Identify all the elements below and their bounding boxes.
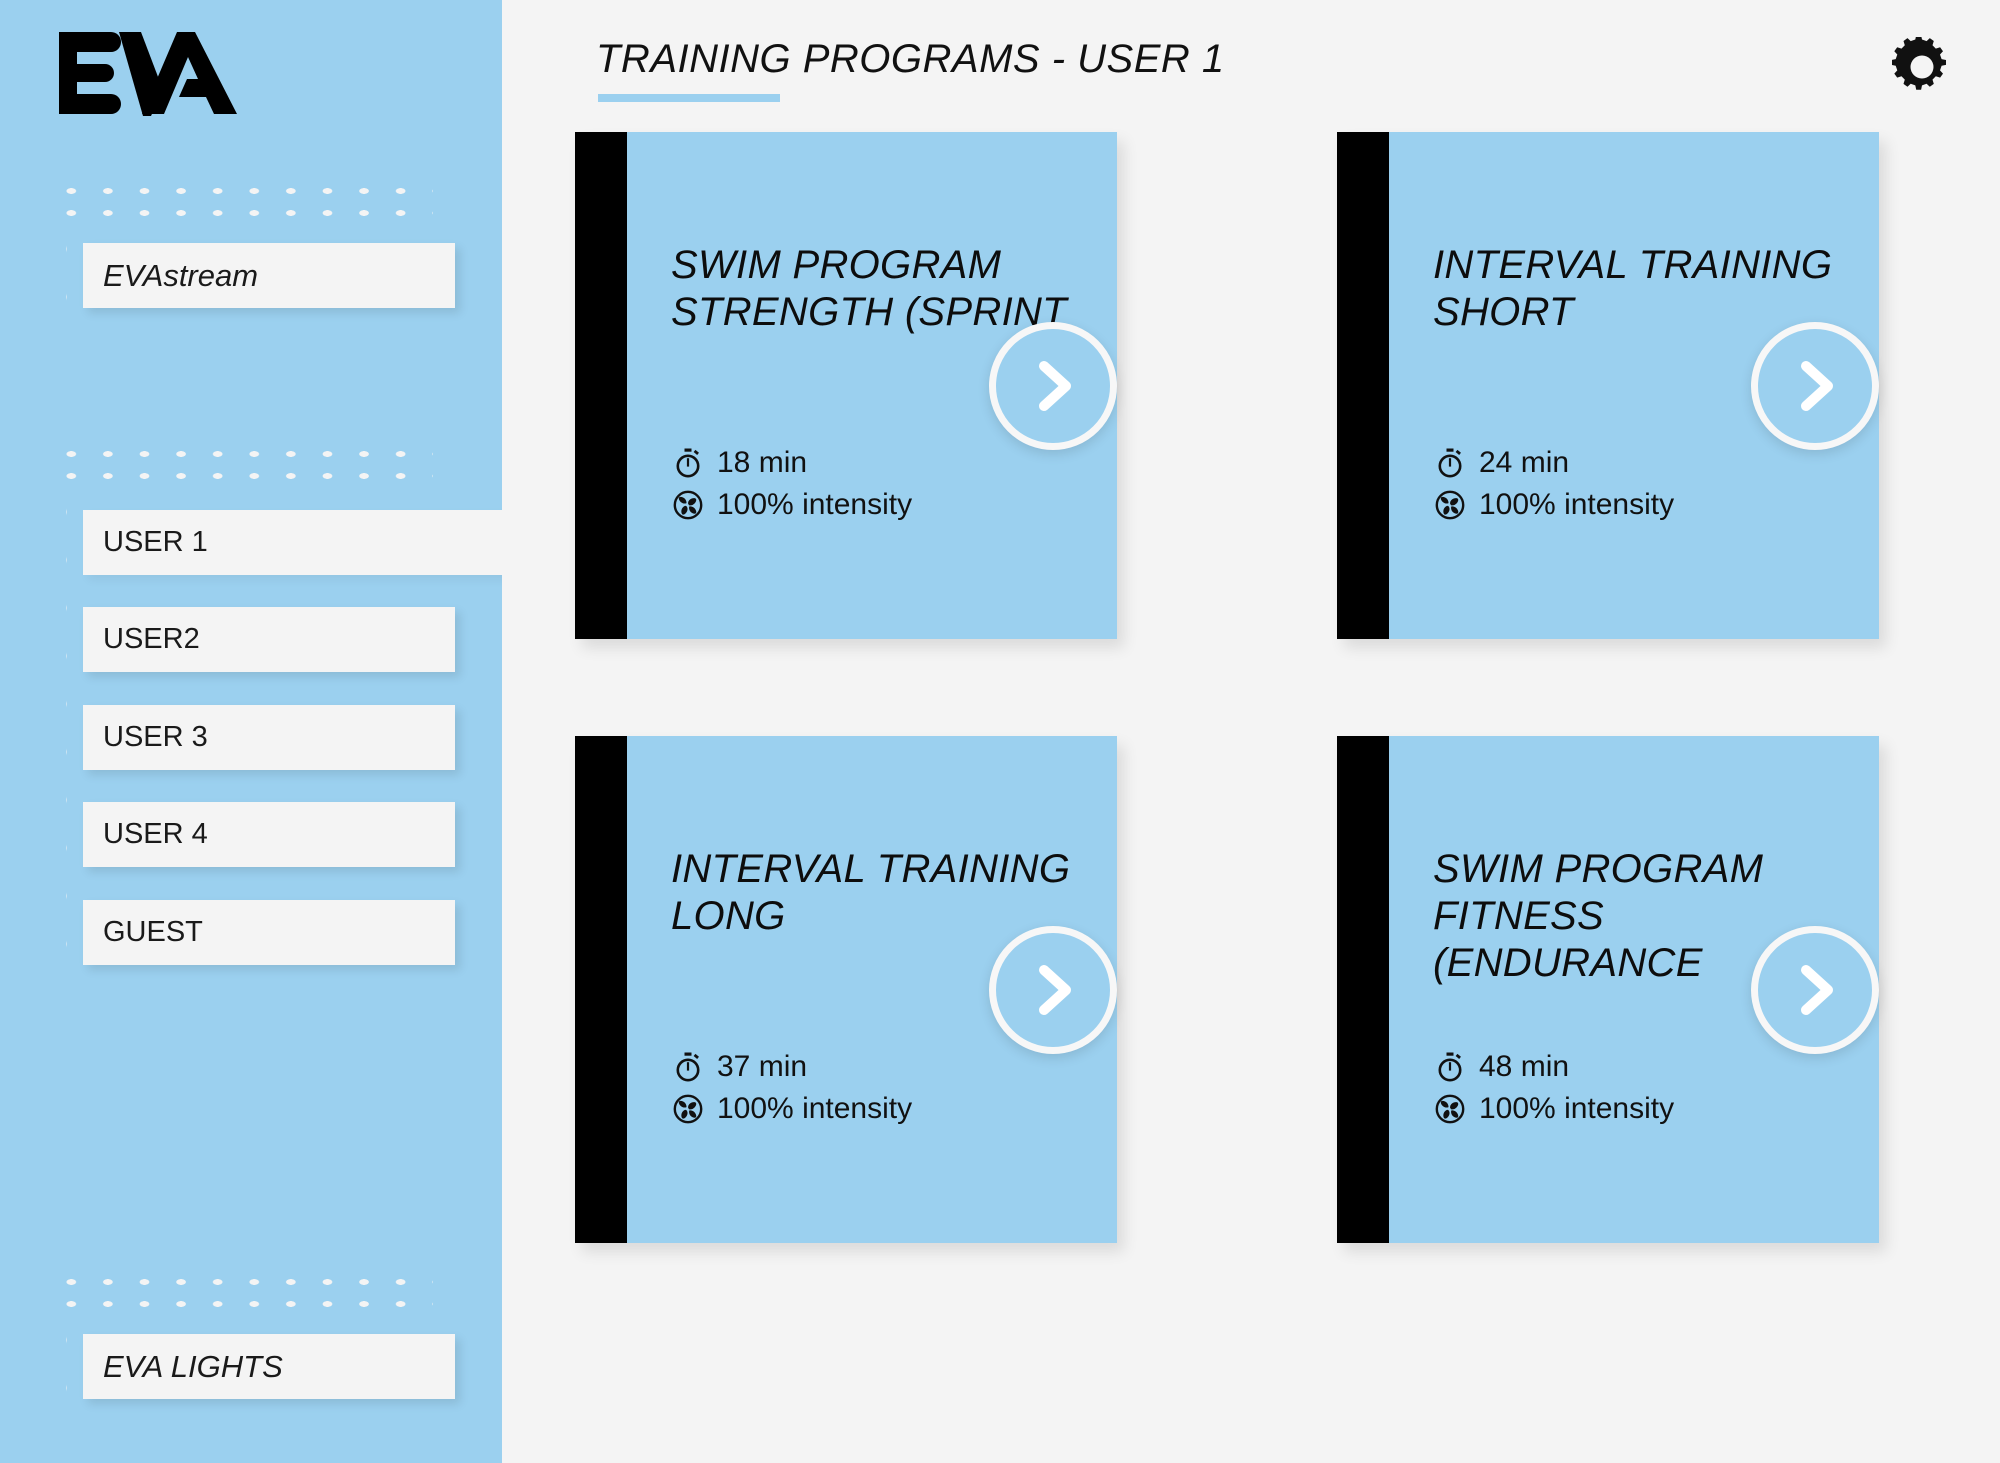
sidebar-item-user-4[interactable]: USER 4 xyxy=(83,802,455,867)
program-duration: 37 min xyxy=(717,1052,807,1082)
page-title-underline xyxy=(598,94,780,102)
sidebar-item-user-4-label: USER 4 xyxy=(103,818,208,851)
sidebar: EVAstream USER 1 USER2 USER 3 USER 4 GUE… xyxy=(0,0,502,1463)
fan-icon xyxy=(671,1092,705,1126)
card-accent-bar xyxy=(575,132,627,639)
program-intensity-row: 100% intensity xyxy=(1433,484,1674,526)
program-card-grid: SWIM PROGRAM STRENGTH (SPRINT 18 min xyxy=(502,128,2000,1463)
dot-pattern-middle xyxy=(53,443,433,487)
program-duration-row: 37 min xyxy=(671,1046,912,1088)
dot-rail-middle xyxy=(53,488,67,948)
sidebar-item-guest[interactable]: GUEST xyxy=(83,900,455,965)
program-duration-row: 48 min xyxy=(1433,1046,1674,1088)
program-intensity: 100% intensity xyxy=(717,490,912,520)
stopwatch-icon xyxy=(1433,446,1467,480)
fan-icon xyxy=(1433,1092,1467,1126)
top-bar: TRAINING PROGRAMS - USER 1 xyxy=(502,0,2000,128)
sidebar-item-user-1-label: USER 1 xyxy=(103,526,208,559)
program-meta: 48 min 100% intensity xyxy=(1433,1046,1674,1130)
card-accent-bar xyxy=(575,736,627,1243)
program-start-button[interactable] xyxy=(989,926,1117,1054)
chevron-right-icon xyxy=(1020,353,1086,419)
sidebar-item-user-3[interactable]: USER 3 xyxy=(83,705,455,770)
program-intensity: 100% intensity xyxy=(1479,490,1674,520)
sidebar-item-user-3-label: USER 3 xyxy=(103,721,208,754)
program-meta: 24 min 100% intensity xyxy=(1433,442,1674,526)
dot-rail-bottom xyxy=(53,1316,67,1426)
sidebar-item-eva-lights-label: EVA LIGHTS xyxy=(103,1349,283,1385)
card-accent-bar xyxy=(1337,736,1389,1243)
main-content: TRAINING PROGRAMS - USER 1 SWIM PROGRAM … xyxy=(502,0,2000,1463)
program-intensity-row: 100% intensity xyxy=(671,1088,912,1130)
program-intensity: 100% intensity xyxy=(1479,1094,1674,1124)
fan-icon xyxy=(671,488,705,522)
eva-logo xyxy=(55,28,255,116)
fan-icon xyxy=(1433,488,1467,522)
sidebar-item-evastream-label: EVAstream xyxy=(103,258,258,294)
chevron-right-icon xyxy=(1782,957,1848,1023)
dot-pattern-top xyxy=(53,180,433,224)
page-title: TRAINING PROGRAMS - USER 1 xyxy=(596,37,1225,82)
program-duration-row: 24 min xyxy=(1433,442,1674,484)
chevron-right-icon xyxy=(1020,957,1086,1023)
sidebar-item-guest-label: GUEST xyxy=(103,916,203,949)
program-intensity-row: 100% intensity xyxy=(1433,1088,1674,1130)
dot-pattern-bottom xyxy=(53,1271,433,1315)
program-meta: 37 min 100% intensity xyxy=(671,1046,912,1130)
program-start-button[interactable] xyxy=(1751,322,1879,450)
stopwatch-icon xyxy=(671,446,705,480)
program-start-button[interactable] xyxy=(989,322,1117,450)
chevron-right-icon xyxy=(1782,353,1848,419)
dot-rail-top xyxy=(53,225,67,330)
program-duration: 48 min xyxy=(1479,1052,1569,1082)
program-start-button[interactable] xyxy=(1751,926,1879,1054)
sidebar-item-user-2-label: USER2 xyxy=(103,623,200,656)
program-intensity: 100% intensity xyxy=(717,1094,912,1124)
program-intensity-row: 100% intensity xyxy=(671,484,912,526)
sidebar-item-user-2[interactable]: USER2 xyxy=(83,607,455,672)
sidebar-item-eva-lights[interactable]: EVA LIGHTS xyxy=(83,1334,455,1399)
sidebar-item-evastream[interactable]: EVAstream xyxy=(83,243,455,308)
stopwatch-icon xyxy=(1433,1050,1467,1084)
card-accent-bar xyxy=(1337,132,1389,639)
program-duration-row: 18 min xyxy=(671,442,912,484)
stopwatch-icon xyxy=(671,1050,705,1084)
gear-icon[interactable] xyxy=(1892,37,1952,97)
program-duration: 24 min xyxy=(1479,448,1569,478)
program-meta: 18 min 100% intensity xyxy=(671,442,912,526)
program-duration: 18 min xyxy=(717,448,807,478)
